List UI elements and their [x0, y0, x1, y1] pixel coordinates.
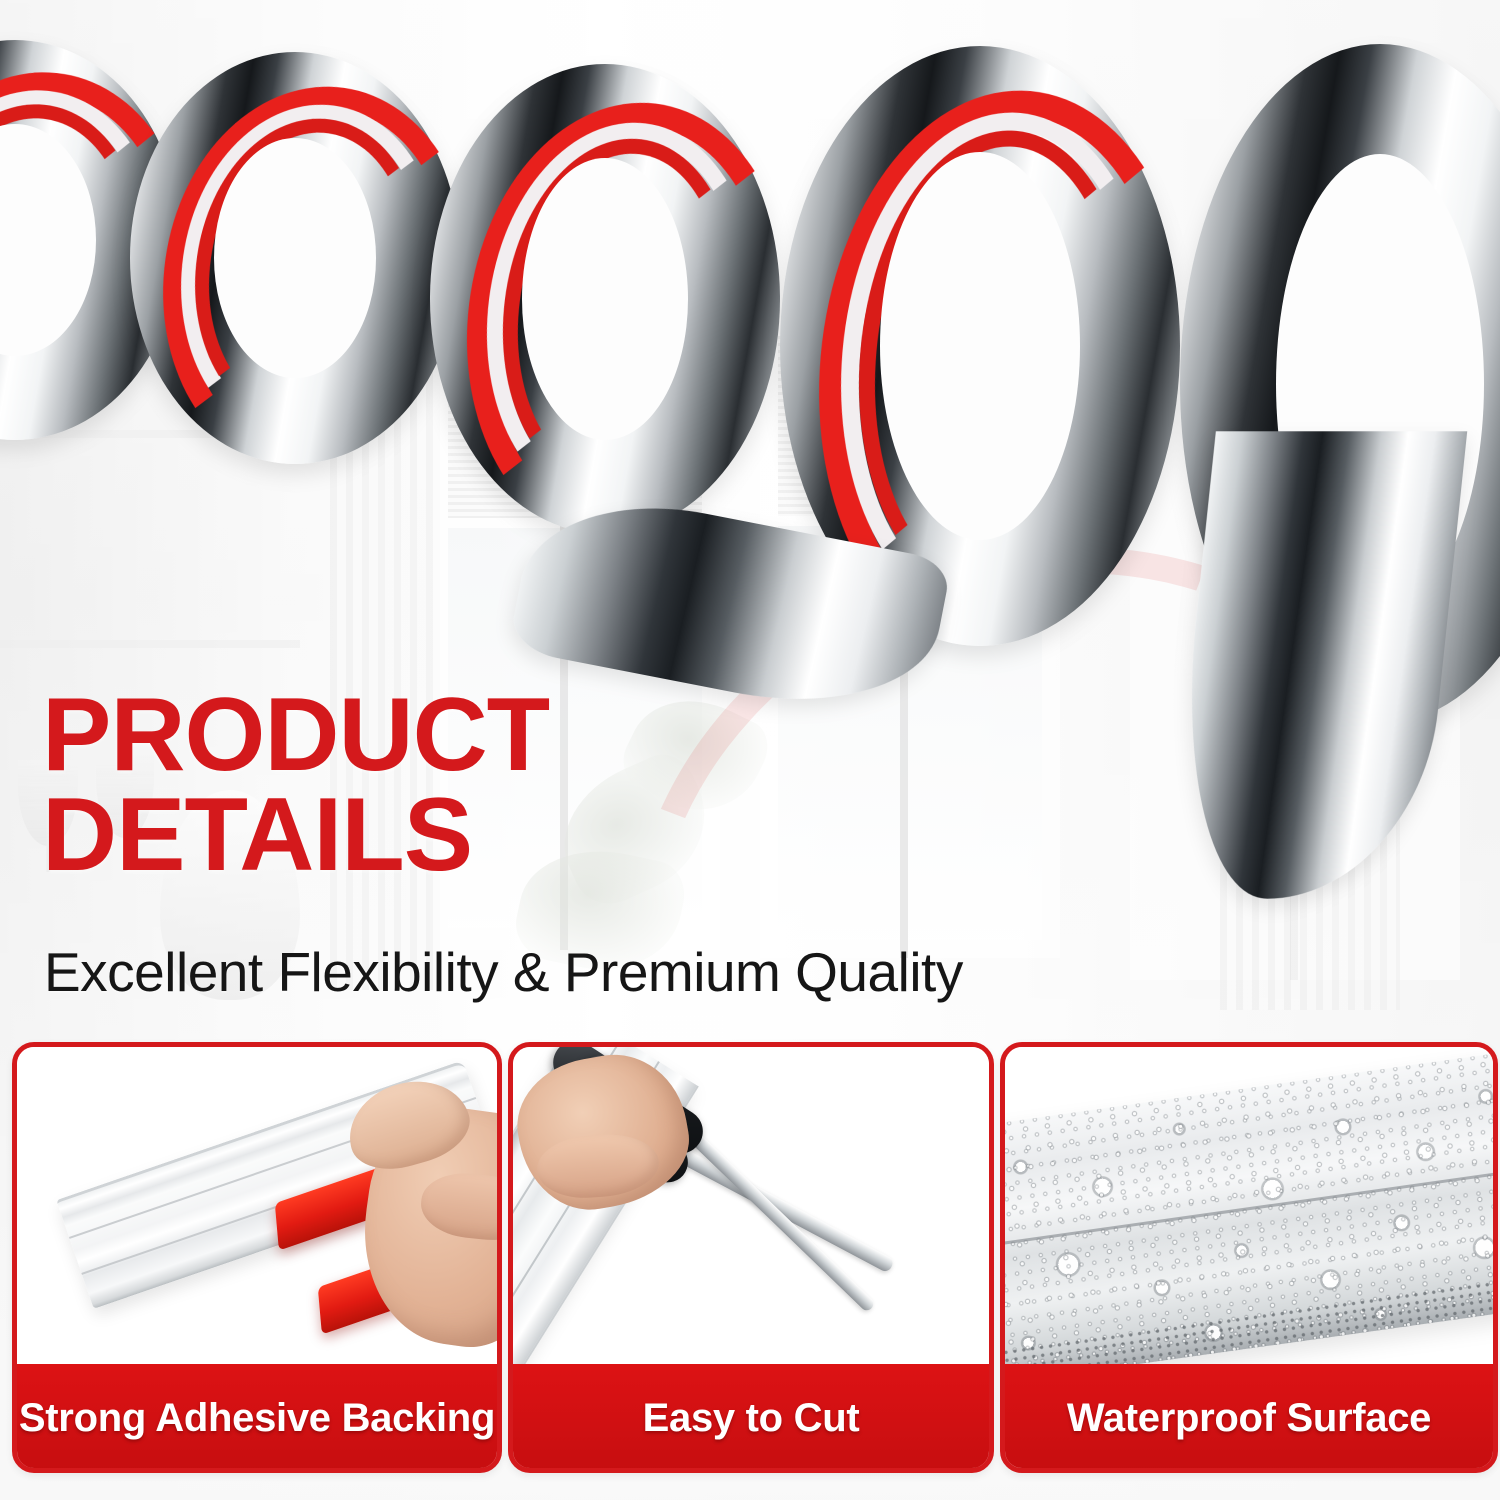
coil-loop-2 — [130, 52, 460, 464]
product-detail-image: PRODUCT DETAILS Excellent Flexibility & … — [0, 0, 1500, 1500]
feature-panel-strong-adhesive-backing[interactable]: Strong Adhesive Backing — [12, 1042, 502, 1473]
feature-caption-bar: Strong Adhesive Backing — [12, 1364, 502, 1473]
feature-panel-waterproof-surface[interactable]: Waterproof Surface — [1000, 1042, 1498, 1473]
coil-tail — [1167, 431, 1468, 898]
feature-panel-easy-to-cut[interactable]: Easy to Cut — [508, 1042, 994, 1473]
scissors-cutting-icon — [513, 1047, 989, 1364]
feature-panel-row: Strong Adhesive Backing Easy to Cut — [0, 1042, 1500, 1467]
water-droplets-icon — [1005, 1047, 1493, 1364]
feature-caption-bar: Easy to Cut — [508, 1364, 994, 1473]
page-title: PRODUCT DETAILS — [42, 686, 822, 886]
feature-caption-label: Strong Adhesive Backing — [19, 1396, 495, 1441]
hand-peeling-adhesive-icon — [17, 1047, 497, 1364]
coil-loop-3 — [430, 64, 780, 534]
feature-caption-label: Easy to Cut — [643, 1396, 860, 1441]
feature-caption-label: Waterproof Surface — [1067, 1396, 1431, 1441]
feature-caption-bar: Waterproof Surface — [1000, 1364, 1498, 1473]
page-subtitle: Excellent Flexibility & Premium Quality — [44, 940, 1224, 1004]
